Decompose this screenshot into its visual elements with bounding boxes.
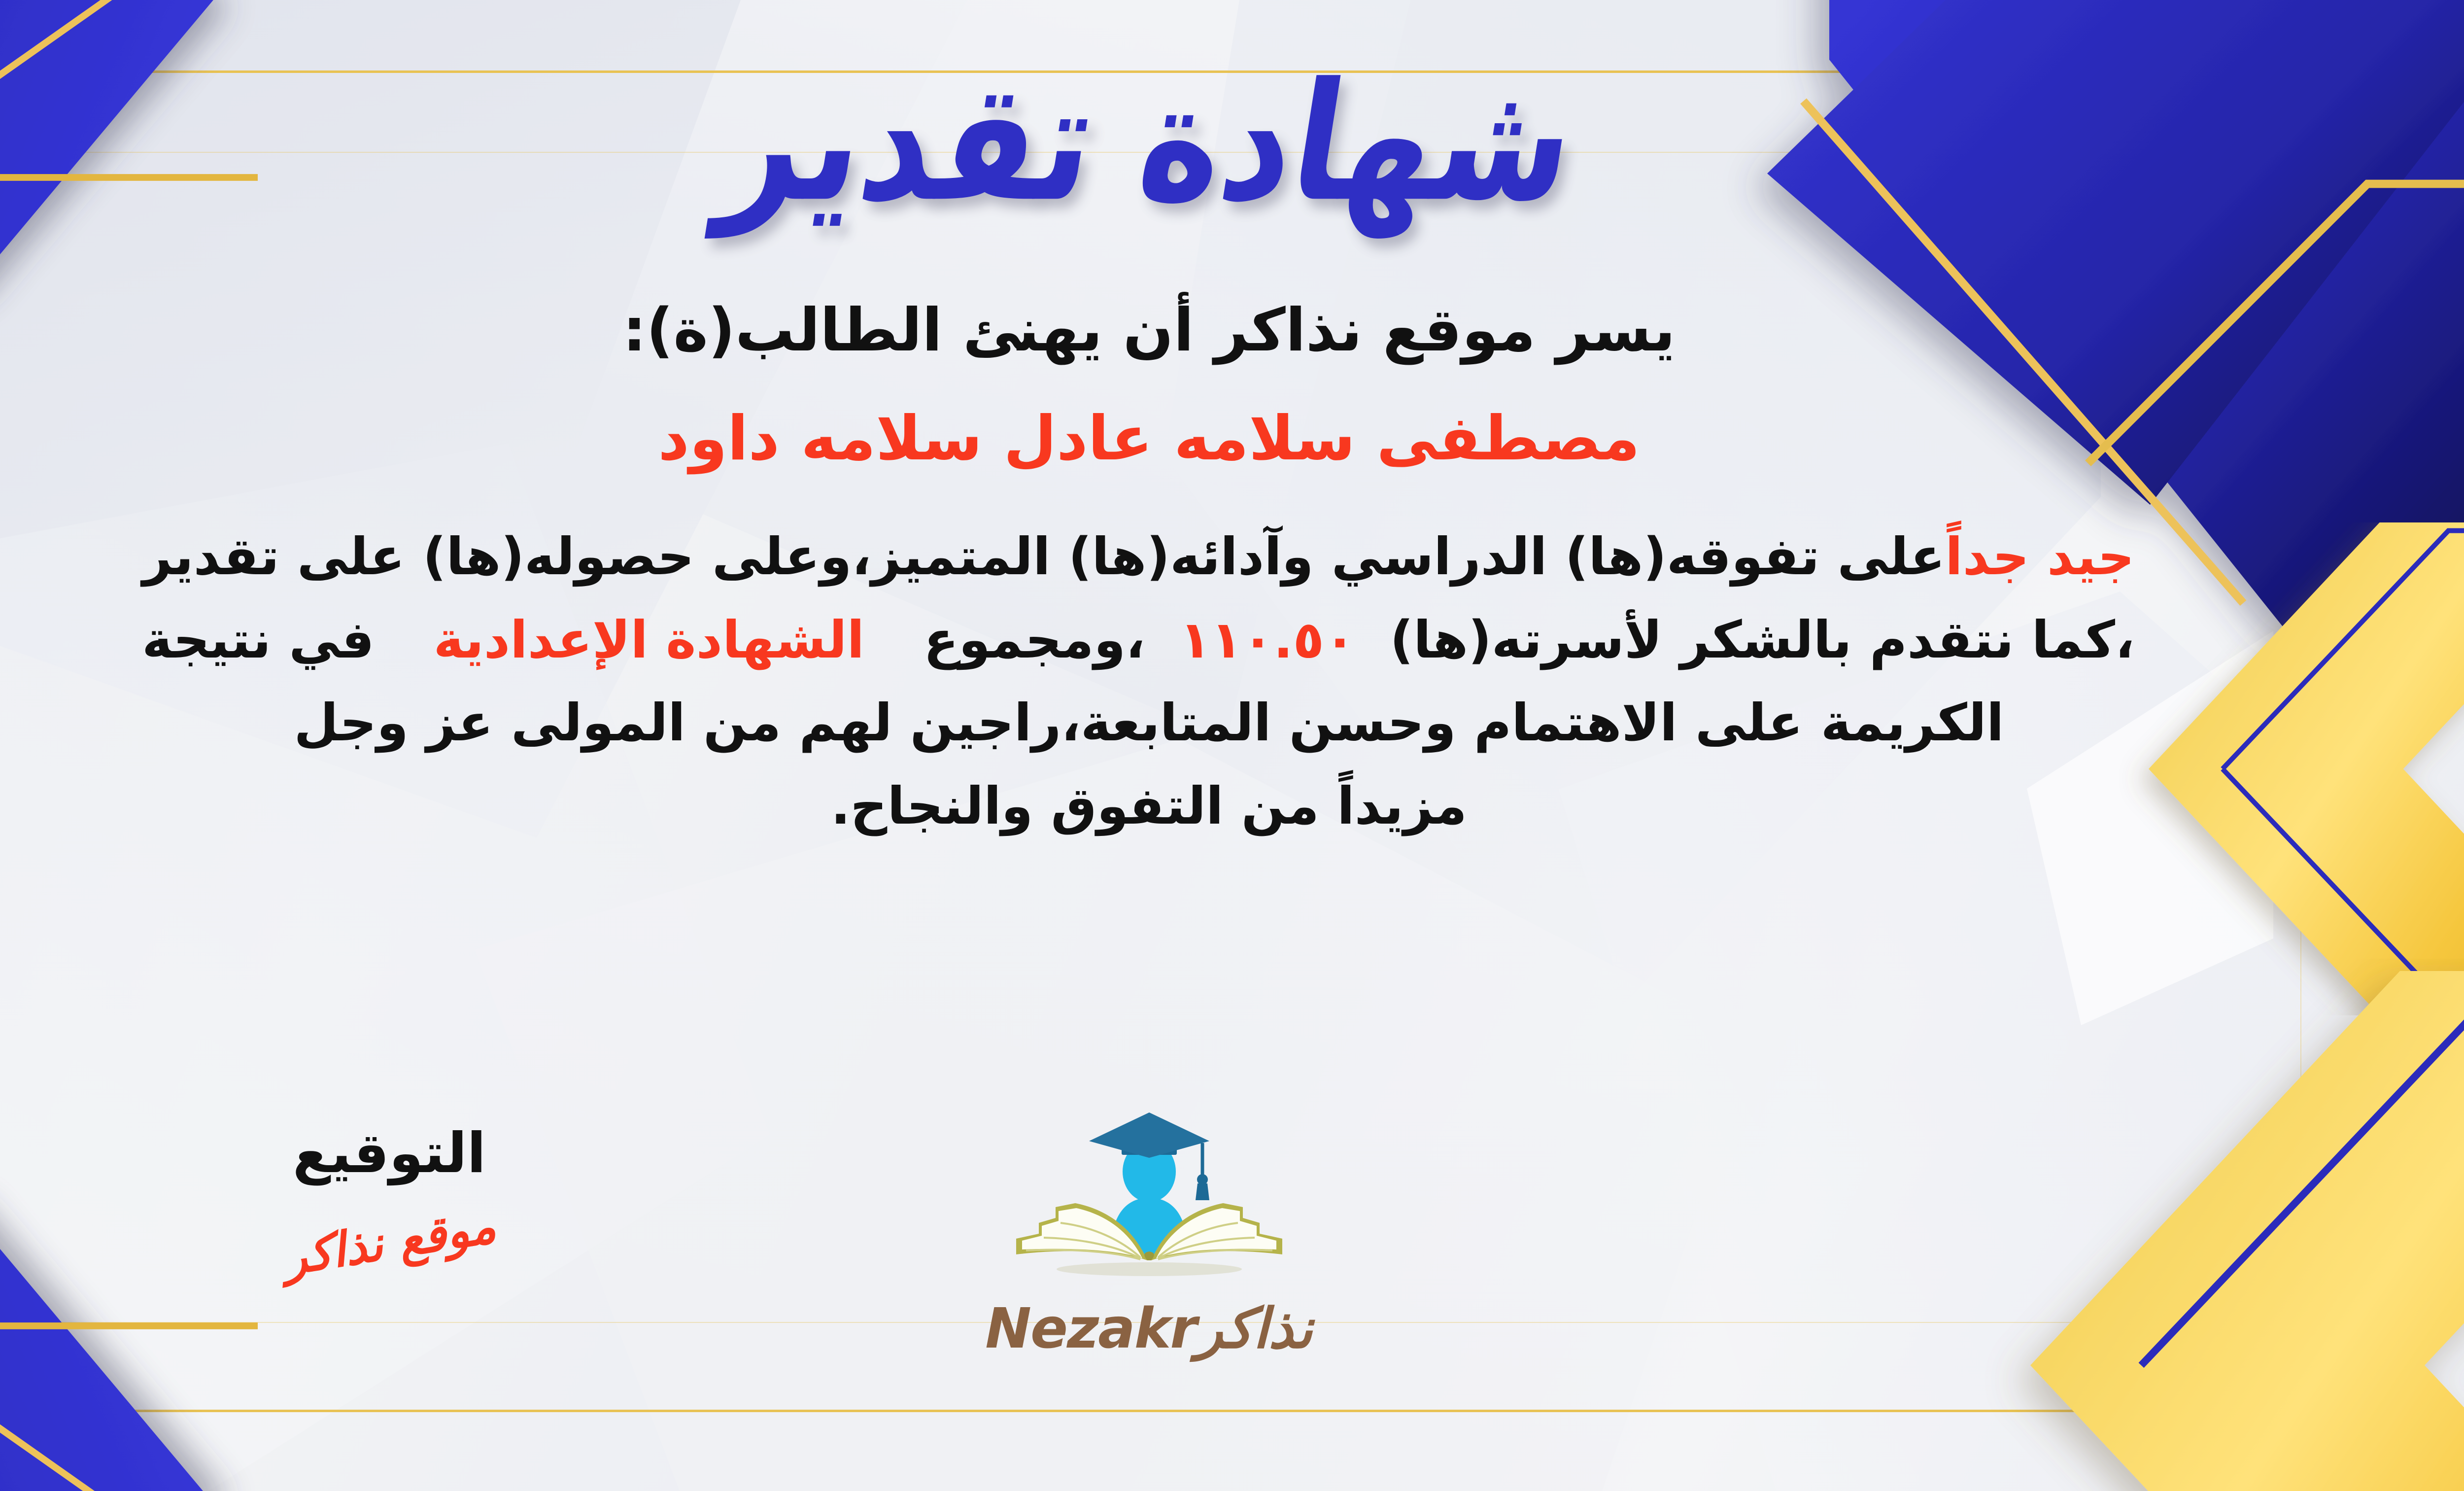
citation-line-3-text: على تفوقه(ها) الدراسي وآدائه(ها) المتميز… [142, 515, 1945, 598]
citation-paragraph: جيد جداً على تفوقه(ها) الدراسي وآدائه(ها… [164, 515, 2135, 847]
signature-area: التوقيع موقع نذاكر [217, 1121, 562, 1270]
citation-line-5: الكريمة على الاهتمام وحسن المتابعة،راجين… [164, 681, 2135, 764]
student-name: مصطفى سلامه عادل سلامه داود [164, 399, 2135, 479]
certificate-page: شهادة تقدير يسر موقع نذاكر أن يهنئ الطال… [0, 0, 2464, 1491]
exam-name-value: الشهادة الإعدادية [434, 610, 865, 670]
citation-line-3: جيد جداً على تفوقه(ها) الدراسي وآدائه(ها… [164, 515, 2135, 598]
logo-wordmark-arabic: نذاكر [1196, 1297, 1312, 1361]
greeting-line: يسر موقع نذاكر أن يهنئ الطالب(ة): [164, 291, 2135, 371]
citation-line-4-text-b: ،ومجموع [924, 610, 1145, 670]
citation-line-6: مزيداً من التفوق والنجاح. [164, 764, 2135, 847]
certificate-footer: التوقيع موقع نذاكر [0, 1121, 2464, 1378]
certificate-body: يسر موقع نذاكر أن يهنئ الطالب(ة): مصطفى … [164, 291, 2135, 847]
certificate-title: شهادة تقدير [713, 62, 1586, 224]
signature-handwriting: موقع نذاكر [214, 1187, 564, 1296]
brand-logo: نذاكرNezakr [947, 1107, 1351, 1361]
graduate-over-open-book-icon [996, 1107, 1302, 1304]
logo-wordmark: نذاكرNezakr [947, 1297, 1351, 1361]
total-score-value: ١١٠.٥٠ [1180, 610, 1356, 670]
signature-label: التوقيع [217, 1121, 562, 1185]
grade-value: جيد جداً [1945, 515, 2134, 598]
citation-line-4: ،كما نتقدم بالشكر لأسرته(ها)١١٠.٥٠،ومجمو… [164, 598, 2135, 681]
citation-line-4-text-a: ،كما نتقدم بالشكر لأسرته(ها) [1390, 610, 2135, 670]
citation-line-4-text-c: في نتيجة [142, 610, 375, 670]
logo-wordmark-latin: Nezakr [985, 1297, 1196, 1361]
